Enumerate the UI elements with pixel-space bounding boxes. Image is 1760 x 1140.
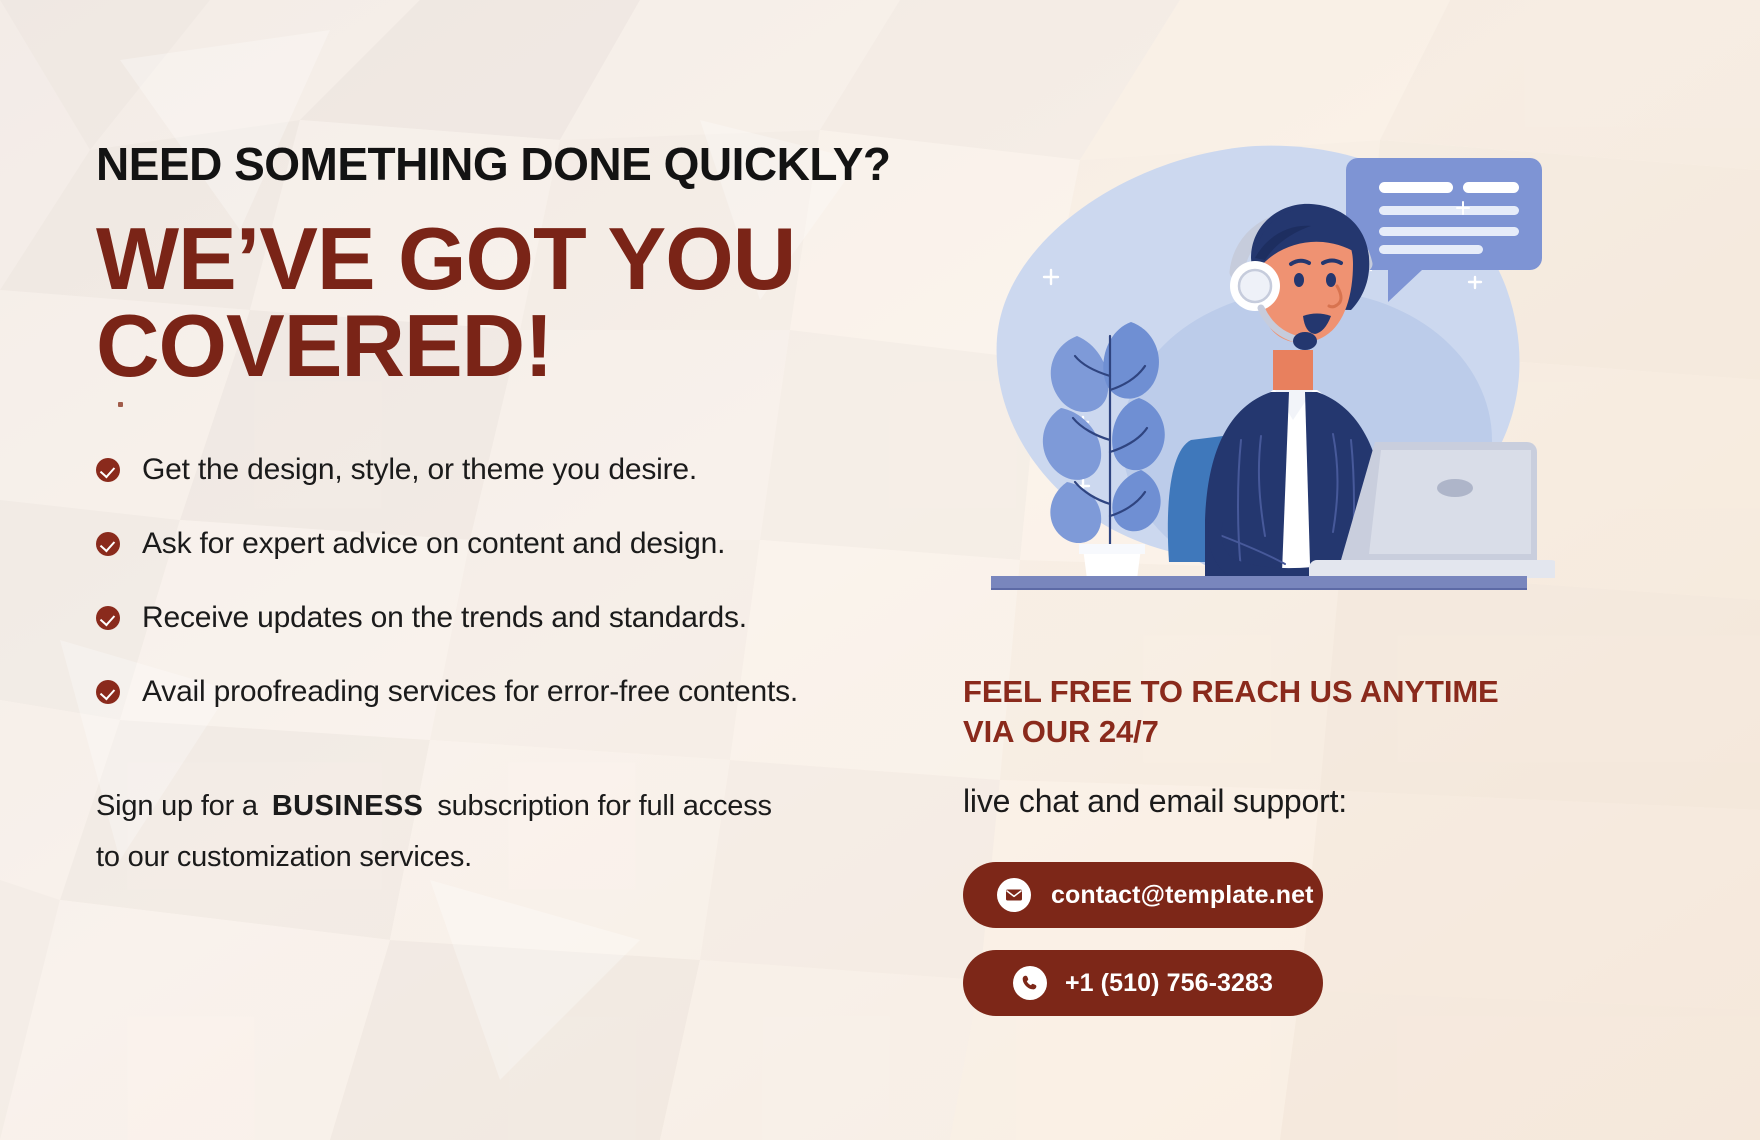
signup-suffix: subscription for full access xyxy=(437,790,772,822)
reach-us-line-2: VIA OUR 24/7 xyxy=(963,712,1499,752)
headline-line-2: COVERED! xyxy=(96,303,966,389)
signup-prefix: Sign up for a xyxy=(96,790,258,822)
right-content-column: FEEL FREE TO REACH US ANYTIME VIA OUR 24… xyxy=(955,0,1655,1140)
list-item: Avail proofreading services for error-fr… xyxy=(96,655,966,729)
phone-contact-button[interactable]: +1 (510) 756-3283 xyxy=(963,950,1323,1016)
email-contact-button[interactable]: contact@template.net xyxy=(963,862,1323,928)
list-item-label: Ask for expert advice on content and des… xyxy=(142,527,725,561)
page-title: WE’VE GOT YOU COVERED! xyxy=(96,216,966,388)
headline-line-1: WE’VE GOT YOU xyxy=(96,216,966,302)
check-circle-icon xyxy=(96,606,120,630)
reach-us-line-1: FEEL FREE TO REACH US ANYTIME xyxy=(963,672,1499,712)
check-circle-icon xyxy=(96,680,120,704)
list-item: Ask for expert advice on content and des… xyxy=(96,507,966,581)
list-item-label: Avail proofreading services for error-fr… xyxy=(142,675,798,709)
signup-plan-name: BUSINESS xyxy=(272,790,423,822)
list-item-label: Receive updates on the trends and standa… xyxy=(142,601,747,635)
list-item: Receive updates on the trends and standa… xyxy=(96,581,966,655)
envelope-icon xyxy=(997,878,1031,912)
check-circle-icon xyxy=(96,458,120,482)
list-item: Get the design, style, or theme you desi… xyxy=(96,433,966,507)
phone-icon xyxy=(1013,966,1047,1000)
phone-number: +1 (510) 756-3283 xyxy=(1065,969,1273,998)
signup-paragraph: Sign up for aBUSINESSsubscription for fu… xyxy=(96,781,966,883)
support-channels-text: live chat and email support: xyxy=(963,783,1347,820)
email-address: contact@template.net xyxy=(1051,881,1314,910)
customer-support-agent-illustration xyxy=(955,140,1555,590)
poster-canvas: NEED SOMETHING DONE QUICKLY? WE’VE GOT Y… xyxy=(0,0,1760,1140)
eyebrow-text: NEED SOMETHING DONE QUICKLY? xyxy=(96,140,966,188)
left-content-column: NEED SOMETHING DONE QUICKLY? WE’VE GOT Y… xyxy=(96,140,966,882)
benefits-list: Get the design, style, or theme you desi… xyxy=(96,433,966,729)
list-item-label: Get the design, style, or theme you desi… xyxy=(142,453,697,487)
reach-us-heading: FEEL FREE TO REACH US ANYTIME VIA OUR 24… xyxy=(963,672,1499,753)
signup-line-2: to our customization services. xyxy=(96,832,966,883)
check-circle-icon xyxy=(96,532,120,556)
desk xyxy=(991,576,1527,590)
decorative-dot xyxy=(118,402,123,407)
